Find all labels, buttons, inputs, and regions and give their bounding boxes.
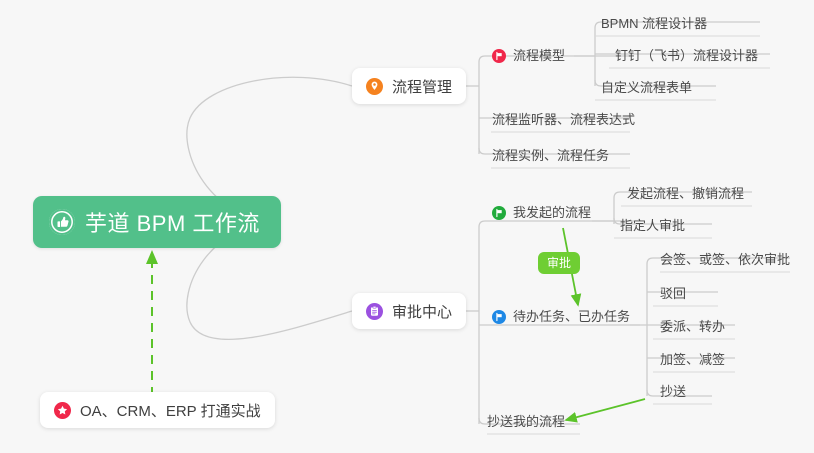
- subnode-todo-done-tasks[interactable]: 待办任务、已办任务: [492, 306, 630, 328]
- subnode-label: 流程模型: [513, 45, 565, 67]
- leaf-dingtalk-designer[interactable]: 钉钉（飞书）流程设计器: [615, 45, 758, 67]
- thumbs-up-icon: [49, 209, 75, 235]
- star-icon: [54, 402, 71, 419]
- leaf-reject[interactable]: 驳回: [660, 283, 686, 305]
- leaf-cc-to-me[interactable]: 抄送我的流程: [487, 411, 565, 433]
- flag-icon: [492, 310, 506, 324]
- integration-note-label: OA、CRM、ERP 打通实战: [80, 400, 261, 421]
- leaf-add-remove-sign[interactable]: 加签、减签: [660, 349, 725, 371]
- leaf-delegate-transfer[interactable]: 委派、转办: [660, 316, 725, 338]
- branch-label: 审批中心: [392, 301, 452, 322]
- location-pin-icon: [366, 78, 383, 95]
- leaf-bpmn-designer[interactable]: BPMN 流程设计器: [601, 13, 707, 35]
- leaf-process-instance[interactable]: 流程实例、流程任务: [492, 145, 609, 167]
- subnode-process-model[interactable]: 流程模型: [492, 45, 565, 67]
- branch-node-process-management[interactable]: 流程管理: [352, 68, 466, 104]
- flag-icon: [492, 206, 506, 220]
- subnode-label: 我发起的流程: [513, 202, 591, 224]
- branch-label: 流程管理: [392, 76, 452, 97]
- leaf-assignee-approval[interactable]: 指定人审批: [620, 215, 685, 237]
- root-node[interactable]: 芋道 BPM 工作流: [33, 196, 281, 248]
- root-label: 芋道 BPM 工作流: [85, 206, 260, 238]
- mindmap-canvas: 芋道 BPM 工作流 OA、CRM、ERP 打通实战 流程管理: [0, 0, 814, 453]
- leaf-custom-form[interactable]: 自定义流程表单: [601, 77, 692, 99]
- subnode-my-started-processes[interactable]: 我发起的流程: [492, 202, 591, 224]
- branch-node-approval-center[interactable]: 审批中心: [352, 293, 466, 329]
- cc-flow-arrow: [566, 399, 645, 420]
- leaf-start-cancel-process[interactable]: 发起流程、撤销流程: [627, 183, 744, 205]
- subnode-label: 待办任务、已办任务: [513, 306, 630, 328]
- approval-annotation-chip[interactable]: 审批: [538, 252, 580, 274]
- leaf-carbon-copy[interactable]: 抄送: [660, 381, 686, 403]
- leaf-process-listener[interactable]: 流程监听器、流程表达式: [492, 109, 635, 131]
- flag-icon: [492, 49, 506, 63]
- leaf-countersign[interactable]: 会签、或签、依次审批: [660, 249, 790, 271]
- integration-note-node[interactable]: OA、CRM、ERP 打通实战: [40, 392, 275, 428]
- clipboard-icon: [366, 303, 383, 320]
